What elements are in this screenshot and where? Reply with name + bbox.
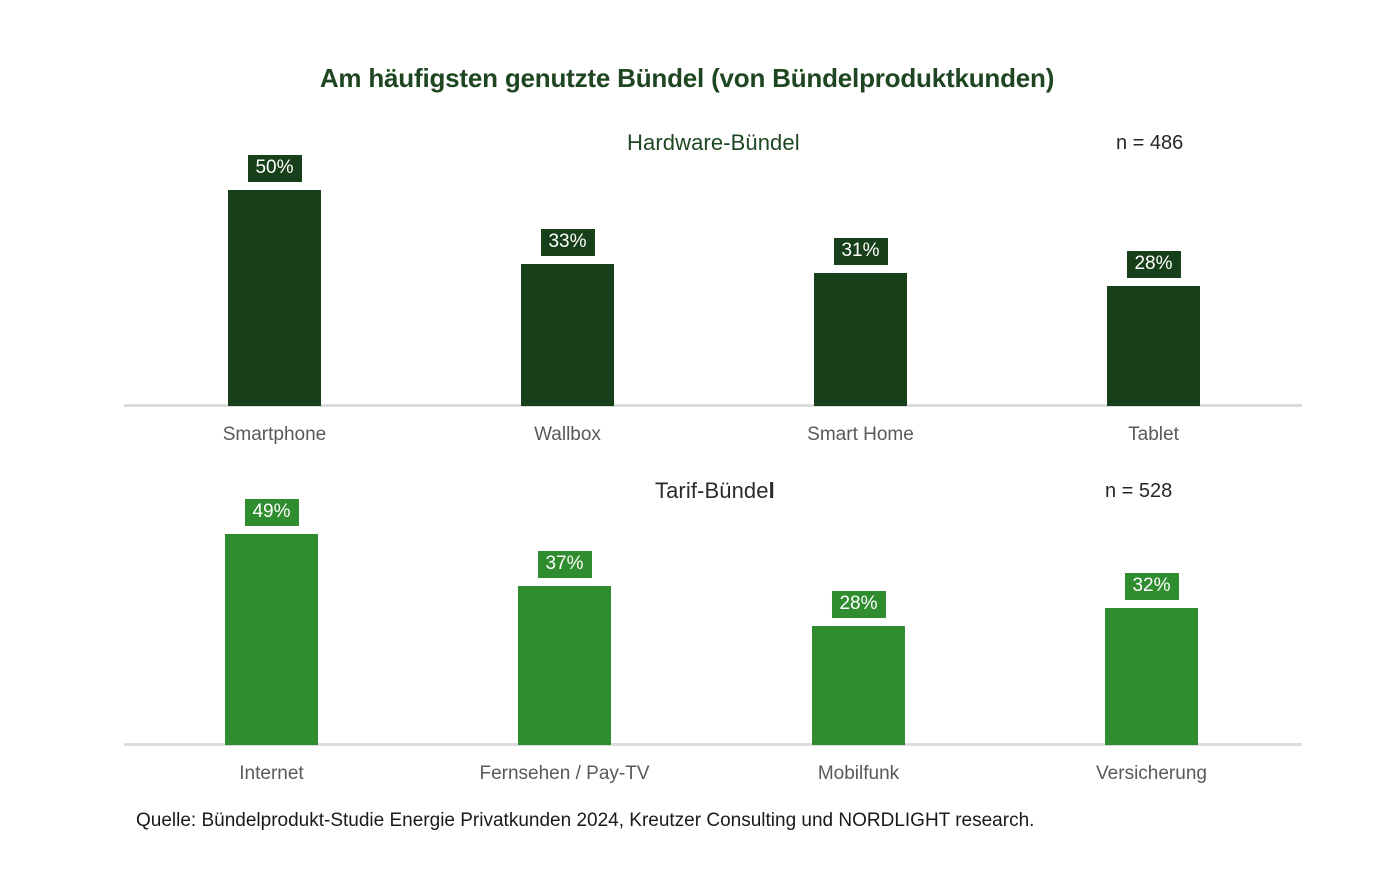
bar-group-tablet: 28% Tablet [1107, 176, 1200, 406]
bar-value-label-tablet: 28% [1126, 251, 1180, 278]
bar-mobilfunk[interactable] [812, 626, 905, 745]
bar-value-label-wallbox: 33% [540, 229, 594, 256]
bar-group-smart-home: 31% Smart Home [814, 176, 907, 406]
panel-subtitle-hardware: Hardware-Bündel [627, 130, 800, 156]
chart-root: Am häufigsten genutzte Bündel (von Bünde… [0, 0, 1374, 874]
bar-group-fernsehen-pay-tv: 37% Fernsehen / Pay-TV [518, 520, 611, 745]
bar-value-label-smartphone: 50% [247, 155, 301, 182]
panel-hardware-buendel: Hardware-Bündel n = 486 50% Smartphone 3… [0, 130, 1374, 460]
panel-header: Tarif-Bündel n = 528 [0, 478, 1374, 508]
bar-group-versicherung: 32% Versicherung [1105, 520, 1198, 745]
bar-group-internet: 49% Internet [225, 520, 318, 745]
bar-group-mobilfunk: 28% Mobilfunk [812, 520, 905, 745]
category-label-smartphone: Smartphone [223, 424, 327, 446]
page-title: Am häufigsten genutzte Bündel (von Bünde… [0, 63, 1374, 94]
bar-fernsehen-pay-tv[interactable] [518, 586, 611, 745]
category-label-tablet: Tablet [1128, 424, 1179, 446]
category-label-internet: Internet [239, 763, 303, 785]
bar-value-label-internet: 49% [244, 499, 298, 526]
category-label-smart-home: Smart Home [807, 424, 914, 446]
sample-size-tarif: n = 528 [1105, 480, 1172, 503]
source-note: Quelle: Bündelprodukt-Studie Energie Pri… [136, 810, 1034, 832]
bar-group-wallbox: 33% Wallbox [521, 176, 614, 406]
panel-subtitle-tarif-tail: l [769, 478, 775, 503]
category-label-mobilfunk: Mobilfunk [818, 763, 899, 785]
bar-value-label-versicherung: 32% [1124, 573, 1178, 600]
bar-smartphone[interactable] [228, 190, 321, 406]
bar-value-label-mobilfunk: 28% [831, 591, 885, 618]
plot-area-tarif: 49% Internet 37% Fernsehen / Pay-TV 28% … [124, 518, 1302, 745]
panel-tarif-buendel: Tarif-Bündel n = 528 49% Internet 37% Fe… [0, 478, 1374, 808]
category-label-versicherung: Versicherung [1096, 763, 1207, 785]
bar-smart-home[interactable] [814, 273, 907, 406]
panel-subtitle-tarif: Tarif-Bündel [655, 478, 775, 504]
category-label-wallbox: Wallbox [534, 424, 601, 446]
bar-internet[interactable] [225, 534, 318, 745]
bar-wallbox[interactable] [521, 264, 614, 406]
bar-group-smartphone: 50% Smartphone [228, 176, 321, 406]
bar-versicherung[interactable] [1105, 608, 1198, 745]
bar-value-label-smart-home: 31% [833, 238, 887, 265]
bar-value-label-fernsehen-pay-tv: 37% [537, 551, 591, 578]
sample-size-hardware: n = 486 [1116, 132, 1183, 155]
plot-area-hardware: 50% Smartphone 33% Wallbox 31% Smart Hom… [124, 174, 1302, 406]
panel-header: Hardware-Bündel n = 486 [0, 130, 1374, 160]
bar-tablet[interactable] [1107, 286, 1200, 406]
panel-subtitle-tarif-main: Tarif-Bünde [655, 478, 769, 503]
category-label-fernsehen-pay-tv: Fernsehen / Pay-TV [479, 763, 649, 785]
